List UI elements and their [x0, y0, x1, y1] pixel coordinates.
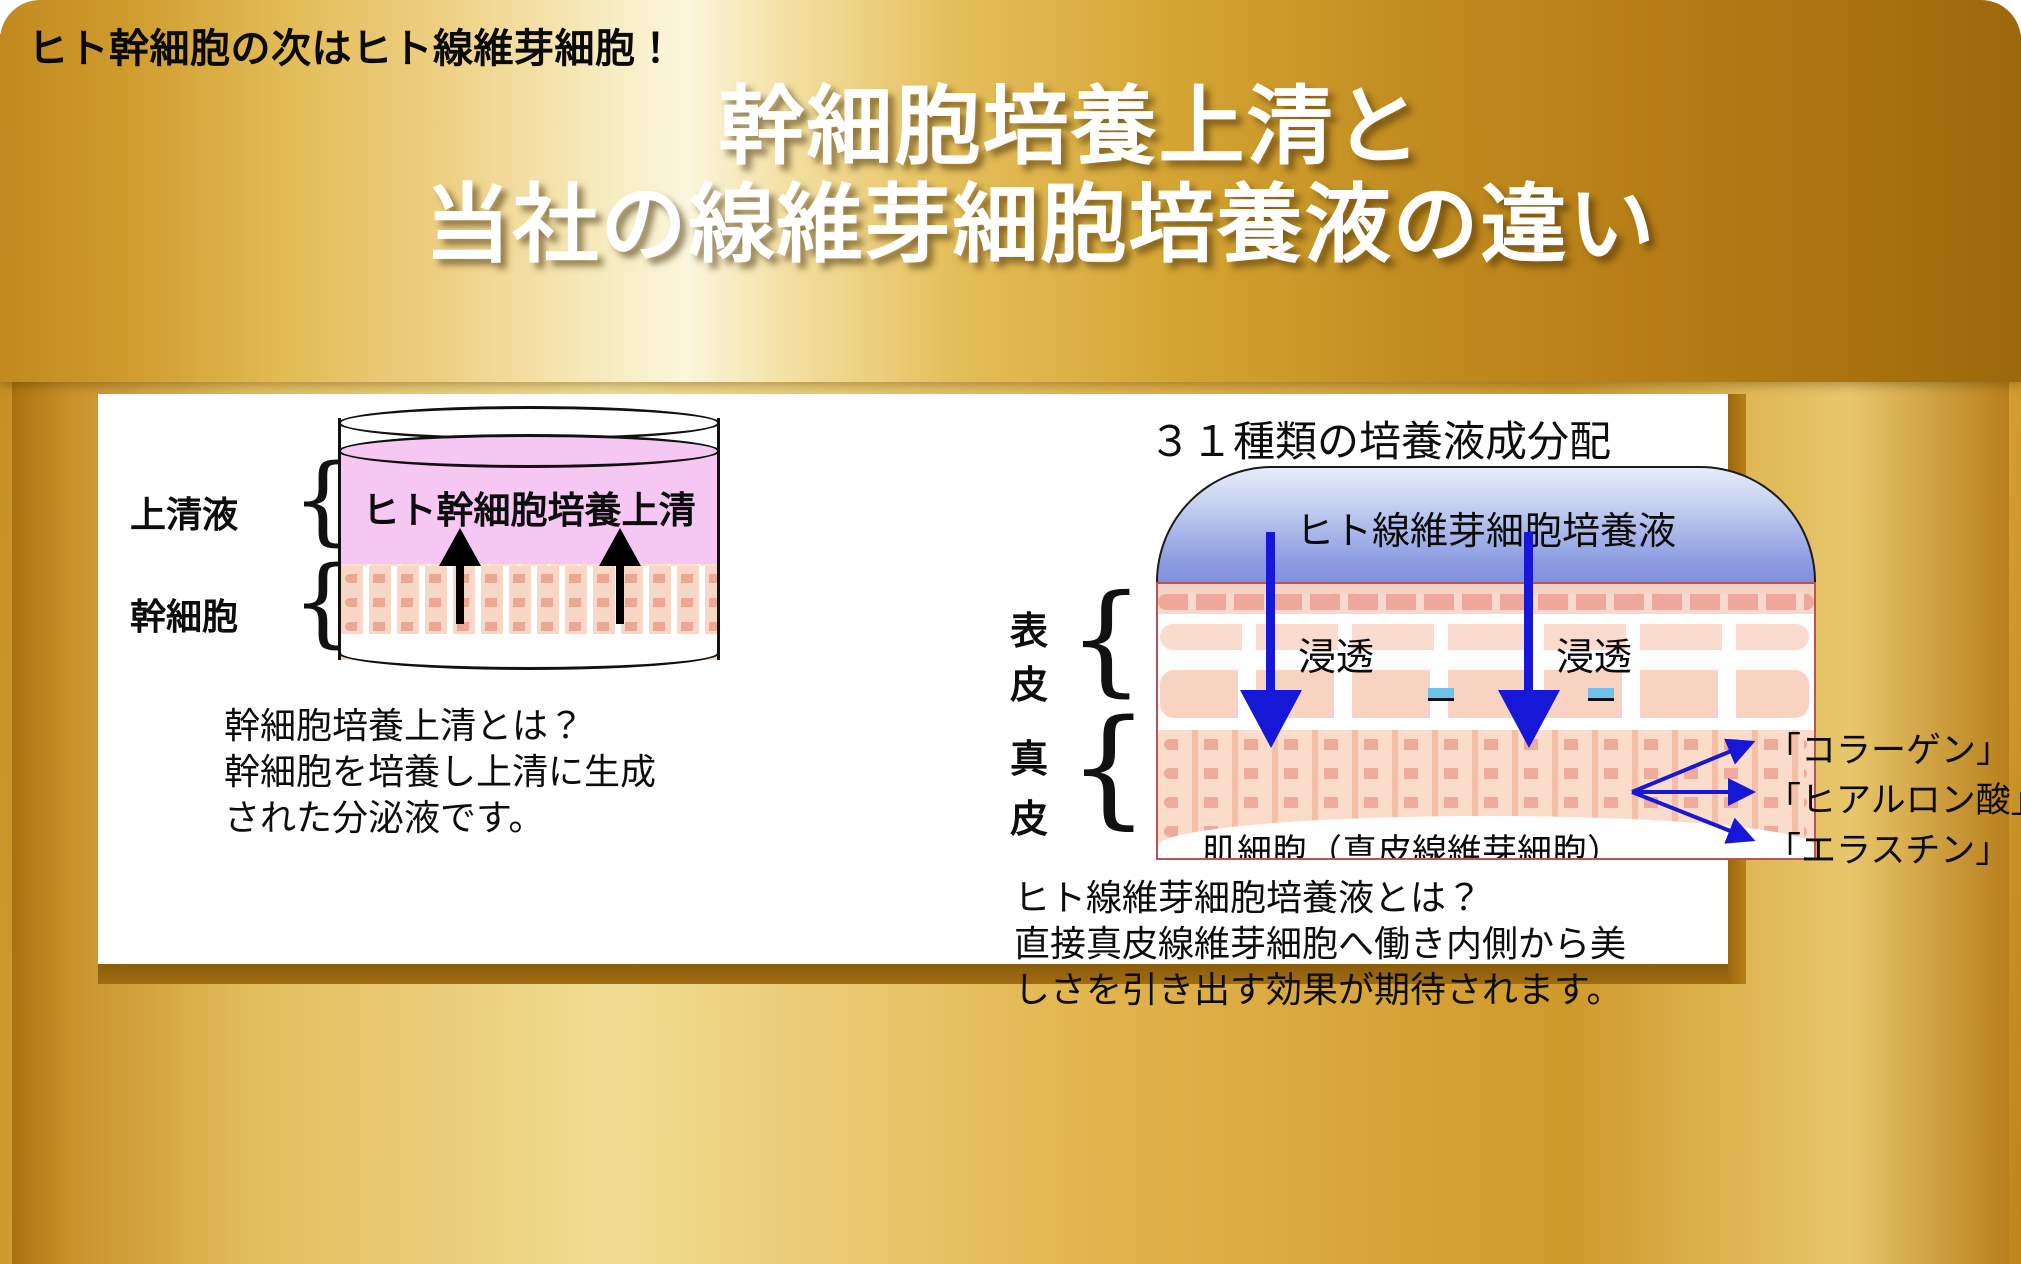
right-caption-line-2: 直接真皮線維芽細胞へ働き内側から美 [1014, 922, 1626, 968]
petri-dish: ヒト幹細胞培養上清 [338, 406, 720, 642]
slide-canvas: ヒト幹細胞の次はヒト線維芽細胞！ 幹細胞培養上清と 当社の線維芽細胞培養液の違い… [0, 0, 2021, 1264]
tight-junction-icon [1588, 688, 1614, 701]
brace-dermis: { [1068, 704, 1149, 832]
label-stem-cells: 幹細胞 [130, 588, 238, 640]
cell-row [341, 566, 720, 590]
left-caption-line-1: 幹細胞培養上清とは？ [224, 704, 584, 750]
dermal-fibroblast-label: 肌細胞（真皮線維芽細胞） [1202, 824, 1622, 860]
brace-epidermis: { [1068, 580, 1144, 700]
header-kicker: ヒト幹細胞の次はヒト線維芽細胞！ [28, 16, 676, 74]
supernatant-surface-ellipse [338, 434, 720, 468]
ingredient-label-hyaluronic: 「ヒアルロン酸」 [1766, 772, 2021, 823]
left-caption-line-3: された分泌液です。 [224, 796, 544, 842]
left-diagram-panel: { 上清液 { 幹細胞 ヒト幹細胞培養上清 [120, 404, 880, 954]
stratum-corneum-layer [1158, 584, 1814, 614]
penetration-label-left: 浸透 [1298, 626, 1374, 681]
dome-label: ヒト線維芽細胞培養液 [1156, 500, 1816, 555]
left-caption-line-2: 幹細胞を培養し上清に生成 [224, 750, 656, 796]
header-title: 幹細胞培養上清と 当社の線維芽細胞培養液の違い [0, 78, 2021, 274]
label-dermis-char-1: 真 [1010, 728, 1048, 783]
label-epidermis-char-2: 皮 [1010, 654, 1048, 709]
label-epidermis-char-1: 表 [1010, 600, 1048, 655]
section-heading: ３１種類の培養液成分配 [1000, 408, 1760, 469]
label-supernatant: 上清液 [130, 486, 238, 538]
title-line-2: 当社の線維芽細胞培養液の違い [0, 176, 2021, 274]
ingredient-label-collagen: 「コラーゲン」 [1766, 722, 2011, 773]
right-caption-line-3: しさを引き出す効果が期待されます。 [1014, 968, 1622, 1014]
penetration-label-right: 浸透 [1556, 626, 1632, 681]
right-diagram-panel: ３１種類の培養液成分配 ヒト線維芽細胞培養液 { 表 皮 { 真 皮 肌細胞（真 [1000, 404, 2000, 964]
cell-row [341, 590, 720, 614]
tight-junction-icon [1428, 688, 1454, 701]
dish-liquid-label: ヒト幹細胞培養上清 [338, 480, 720, 534]
right-caption-line-1: ヒト線維芽細胞培養液とは？ [1014, 876, 1482, 922]
dish-bottom-mask [341, 634, 717, 652]
epidermis-upper-layer [1158, 618, 1814, 660]
label-dermis-char-2: 皮 [1010, 788, 1048, 843]
title-line-1: 幹細胞培養上清と [0, 78, 2021, 176]
ingredient-label-elastin: 「エラスチン」 [1766, 822, 2010, 873]
